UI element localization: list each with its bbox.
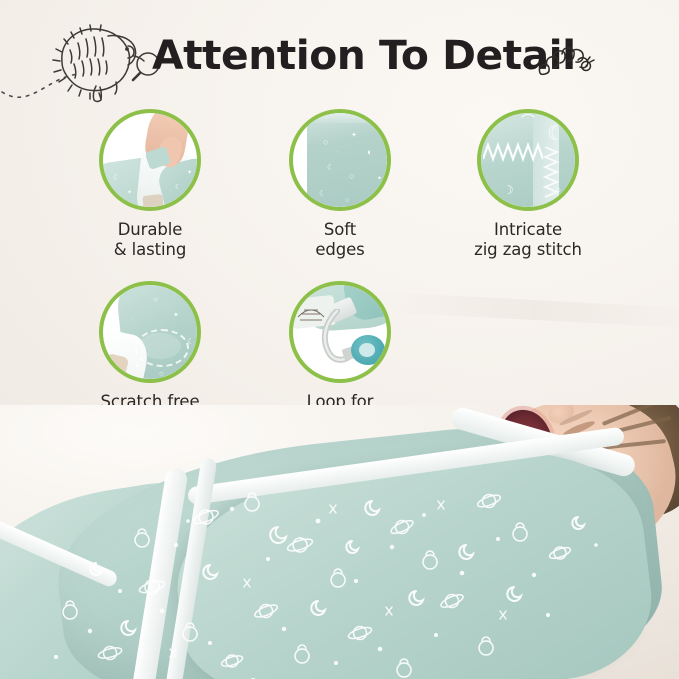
caption-line-2: zig zag stitch (453, 240, 603, 260)
caption-line-1: Soft (265, 220, 415, 240)
sheet-shadow (370, 291, 679, 328)
header: Attention To Detail (0, 0, 679, 100)
product-infographic: Attention To Detail (0, 0, 679, 679)
feature-soft-edges[interactable]: ○ ✦ ◐ ☾ ○ ✦ ☾ ○ ✦ · Soft edges (265, 109, 415, 260)
feature-image-pacifier-loop (289, 281, 391, 383)
feature-caption-soft-edges: Soft edges (265, 220, 415, 260)
page-title: Attention To Detail (152, 33, 576, 79)
swaddle-celestial-pattern (0, 405, 679, 679)
feature-durable[interactable]: ☾ ✦ ○ ☾ ✦ Durable & lasting (75, 109, 225, 260)
caption-line-1: Intricate (453, 220, 603, 240)
caterpillar-icon (534, 40, 596, 82)
feature-caption-zig-zag-stitch: Intricate zig zag stitch (453, 220, 603, 260)
caption-line-1: Durable (75, 220, 225, 240)
feature-zig-zag-stitch[interactable]: ☾ ⌒ ☽ ○ Intricate zig zag stitch (453, 109, 603, 260)
feature-image-soft-edges: ○ ✦ ◐ ☾ ○ ✦ ☾ ○ ✦ · (289, 109, 391, 211)
feature-caption-durable: Durable & lasting (75, 220, 225, 260)
caption-line-2: & lasting (75, 240, 225, 260)
feature-image-zig-zag-stitch: ☾ ⌒ ☽ ○ (477, 109, 579, 211)
caption-line-2: edges (265, 240, 415, 260)
feature-image-hook-and-loop: ○ ✦ · ☾ ○ ✦ (99, 281, 201, 383)
hero-photo-baby-in-swaddle (0, 405, 679, 679)
feature-image-durable: ☾ ✦ ○ ☾ ✦ (99, 109, 201, 211)
hedgehog-with-magnifier-icon (44, 16, 162, 104)
